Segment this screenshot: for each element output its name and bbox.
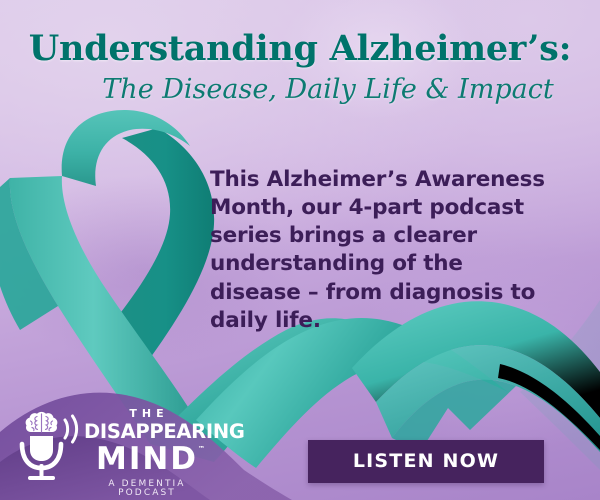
listen-now-button[interactable]: LISTEN NOW (308, 440, 544, 483)
page-title: Understanding Alzheimer’s: (0, 30, 600, 67)
podcast-logo[interactable]: THE DISAPPEARING MIND ™ A DEMENTIA PODCA… (10, 404, 210, 490)
brain-shape (26, 412, 58, 432)
logo-wordmark: THE DISAPPEARING MIND ™ A DEMENTIA PODCA… (84, 408, 210, 498)
headline-block: Understanding Alzheimer’s: The Disease, … (0, 30, 600, 105)
logo-tagline: A DEMENTIA PODCAST (84, 480, 210, 498)
trademark-symbol: ™ (198, 446, 205, 453)
sound-wave-icon (65, 416, 77, 442)
logo-disappearing-text: DISAPPEARING (84, 420, 245, 443)
alzheimers-awareness-ad-banner: Understanding Alzheimer’s: The Disease, … (0, 0, 600, 500)
logo-line-mind: MIND ™ (96, 444, 198, 476)
logo-line-disappearing: DISAPPEARING (84, 422, 245, 442)
body-copy: This Alzheimer’s Awareness Month, our 4-… (210, 166, 560, 335)
logo-mind-text: MIND (96, 441, 198, 477)
brain-microphone-icon (10, 406, 82, 486)
page-subtitle: The Disease, Daily Life & Impact (0, 75, 600, 105)
logo-line-the: THE (88, 408, 210, 419)
